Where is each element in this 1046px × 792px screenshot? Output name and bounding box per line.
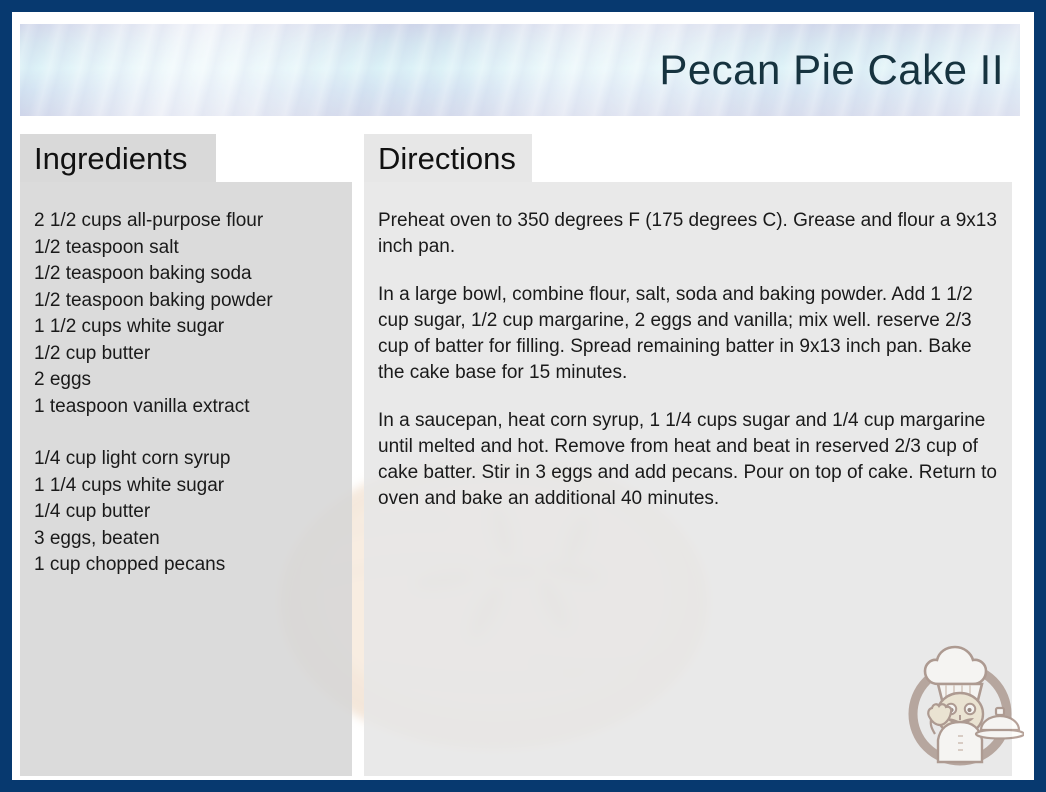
list-item: 1 teaspoon vanilla extract (34, 394, 338, 421)
directions-heading: Directions (364, 143, 516, 174)
direction-step-2: In a large bowl, combine flour, salt, so… (378, 282, 998, 386)
direction-step-1: Preheat oven to 350 degrees F (175 degre… (378, 208, 998, 260)
list-item: 1/2 cup butter (34, 341, 338, 368)
list-item: 1/2 teaspoon baking soda (34, 261, 338, 288)
title-banner: Pecan Pie Cake II (20, 24, 1020, 116)
list-item: 1/4 cup light corn syrup (34, 446, 338, 473)
list-item: 1/2 teaspoon salt (34, 235, 338, 262)
list-item: 1 cup chopped pecans (34, 552, 338, 579)
ingredient-group-cake: 2 1/2 cups all-purpose flour 1/2 teaspoo… (34, 208, 338, 420)
recipe-slide: Pecan Pie Cake II (0, 0, 1046, 792)
ingredients-heading: Ingredients (20, 143, 187, 174)
ingredients-body: 2 1/2 cups all-purpose flour 1/2 teaspoo… (20, 182, 352, 776)
list-item: 1 1/4 cups white sugar (34, 473, 338, 500)
list-item: 2 eggs (34, 367, 338, 394)
directions-header-tab: Directions (364, 134, 532, 182)
list-item: 1/4 cup butter (34, 499, 338, 526)
ingredients-panel: Ingredients 2 1/2 cups all-purpose flour… (20, 134, 352, 776)
list-item: 3 eggs, beaten (34, 526, 338, 553)
list-item: 2 1/2 cups all-purpose flour (34, 208, 338, 235)
direction-step-3: In a saucepan, heat corn syrup, 1 1/4 cu… (378, 408, 998, 512)
list-item: 1/2 teaspoon baking powder (34, 288, 338, 315)
directions-panel: Directions Preheat oven to 350 degrees F… (364, 134, 1012, 776)
page-title: Pecan Pie Cake II (659, 46, 1004, 94)
slide-canvas: Pecan Pie Cake II (12, 12, 1034, 780)
list-item: 1 1/2 cups white sugar (34, 314, 338, 341)
ingredient-group-filling: 1/4 cup light corn syrup 1 1/4 cups whit… (34, 446, 338, 579)
ingredients-header-tab: Ingredients (20, 134, 216, 182)
directions-body: Preheat oven to 350 degrees F (175 degre… (364, 182, 1012, 776)
